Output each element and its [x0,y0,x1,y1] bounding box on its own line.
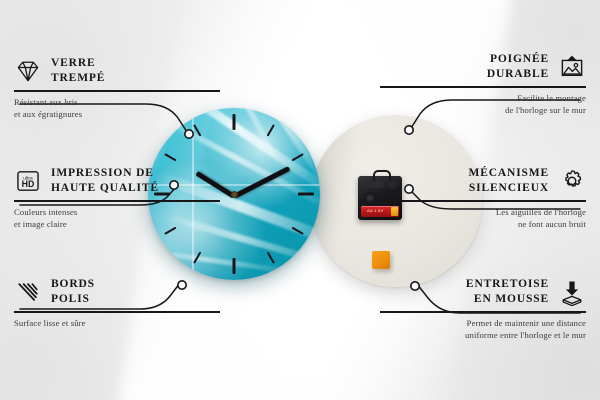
callout-sub-line1: Facilite le montage [380,92,586,104]
callout-subtitle: Surface lisse et sûre [14,317,220,329]
callout-poignee-durable: POIGNÉE DURABLE Facilite le montage de l… [380,52,586,117]
callout-title: MÉCANISME SILENCIEUX [469,166,550,196]
callout-rule [380,200,586,202]
callout-title-line1: ENTRETOISE [466,277,549,292]
callout-impression-haute-qualite: ultra HD IMPRESSION DE HAUTE QUALITÉ Cou… [14,166,220,231]
callout-rule [14,200,220,202]
gear-icon [558,167,586,195]
callout-subtitle: Permet de maintenir une distance uniform… [380,317,586,342]
callout-subtitle: Résistant aux bris et aux égratignures [14,96,220,121]
polished-edges-icon [14,278,42,306]
callout-title-line1: POIGNÉE [487,52,549,67]
callout-sub-line2: de l'horloge sur le mur [380,104,586,116]
callout-sub-line1: Permet de maintenir une distance [380,317,586,329]
callout-subtitle: Les aiguilles de l'horloge ne font aucun… [380,206,586,231]
callout-title-line2: POLIS [51,292,95,307]
callout-title-line2: DURABLE [487,67,549,82]
callout-title: BORDS POLIS [51,277,95,307]
foam-spacer-icon [558,278,586,306]
callout-header: POIGNÉE DURABLE [380,52,586,82]
callout-title-line1: BORDS [51,277,95,292]
callout-title-line2: EN MOUSSE [466,292,549,307]
callout-header: VERRE TREMPÉ [14,56,220,86]
infographic-canvas: AA 1.5V [0,0,600,400]
callout-subtitle: Facilite le montage de l'horloge sur le … [380,92,586,117]
callout-sub-line2: uniforme entre l'horloge et le mur [380,329,586,341]
callout-sub-line2: et image claire [14,218,220,230]
callout-title-line2: TREMPÉ [51,71,105,86]
callout-title-line1: VERRE [51,56,105,71]
callout-rule [14,90,220,92]
callout-header: ultra HD IMPRESSION DE HAUTE QUALITÉ [14,166,220,196]
picture-hanger-icon [558,53,586,81]
callout-bords-polis: BORDS POLIS Surface lisse et sûre [14,277,220,329]
callout-sub-line1: Surface lisse et sûre [14,317,220,329]
callout-sub-line1: Résistant aux bris [14,96,220,108]
callout-header: MÉCANISME SILENCIEUX [380,166,586,196]
callout-title: IMPRESSION DE HAUTE QUALITÉ [51,166,159,196]
callout-title-line1: MÉCANISME [469,166,550,181]
callout-entretoise-en-mousse: ENTRETOISE EN MOUSSE Permet de maintenir… [380,277,586,342]
callout-rule [380,311,586,313]
svg-text:HD: HD [22,179,35,189]
callout-title-line1: IMPRESSION DE [51,166,159,181]
callout-mecanisme-silencieux: MÉCANISME SILENCIEUX Les aiguilles de l'… [380,166,586,231]
callout-header: BORDS POLIS [14,277,220,307]
callout-title-line2: SILENCIEUX [469,181,550,196]
leader-endpoint-verre [185,130,193,138]
callout-sub-line2: ne font aucun bruit [380,218,586,230]
callout-title-line2: HAUTE QUALITÉ [51,181,159,196]
diamond-icon [14,57,42,85]
callout-subtitle: Couleurs intenses et image claire [14,206,220,231]
leader-endpoint-poignee [405,126,413,134]
callout-title: ENTRETOISE EN MOUSSE [466,277,549,307]
callout-title: VERRE TREMPÉ [51,56,105,86]
callout-rule [380,86,586,88]
callout-sub-line1: Les aiguilles de l'horloge [380,206,586,218]
ultra-hd-icon: ultra HD [14,167,42,195]
callout-sub-line2: et aux égratignures [14,108,220,120]
callout-rule [14,311,220,313]
callout-sub-line1: Couleurs intenses [14,206,220,218]
callout-header: ENTRETOISE EN MOUSSE [380,277,586,307]
callout-title: POIGNÉE DURABLE [487,52,549,82]
callout-verre-trempe: VERRE TREMPÉ Résistant aux bris et aux é… [14,56,220,121]
